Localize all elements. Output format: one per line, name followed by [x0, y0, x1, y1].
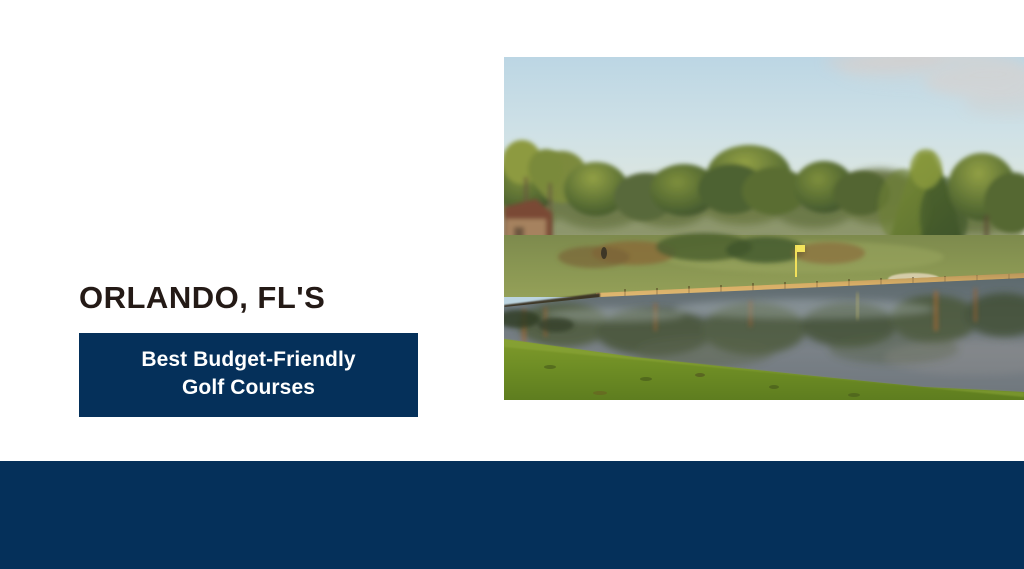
golf-course-photo-illustration [504, 57, 1024, 400]
distant-figure [601, 247, 607, 259]
subheading-banner: Best Budget-Friendly Golf Courses [79, 333, 418, 417]
poster-canvas: ORLANDO, FL'S Best Budget-Friendly Golf … [0, 0, 1024, 569]
page-title: ORLANDO, FL'S [79, 282, 423, 315]
subheading-line-2: Golf Courses [182, 374, 315, 402]
text-block: ORLANDO, FL'S Best Budget-Friendly Golf … [79, 282, 423, 417]
bottom-navy-band [0, 461, 1024, 569]
subheading-line-1: Best Budget-Friendly [141, 346, 355, 374]
golf-course-photo [504, 57, 1024, 400]
